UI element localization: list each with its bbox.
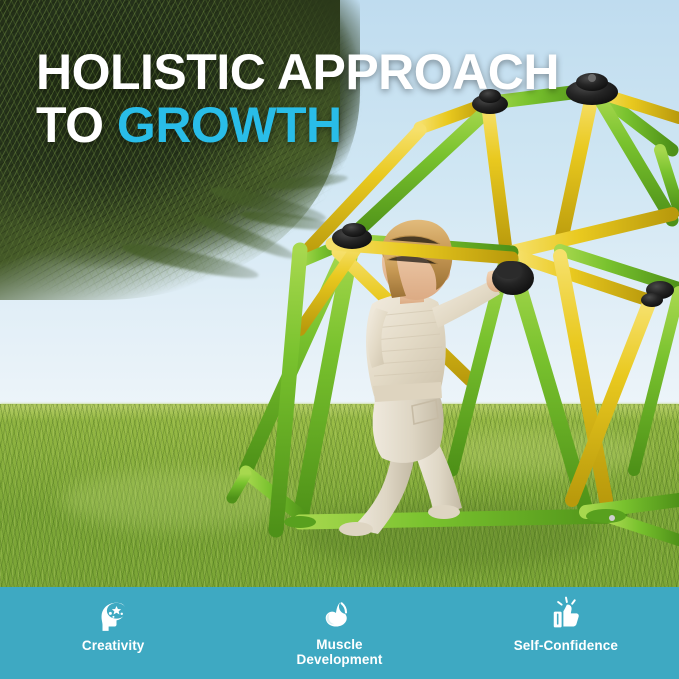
feature-label-creativity: Creativity bbox=[82, 639, 145, 654]
dome-pole-yellow bbox=[512, 214, 672, 252]
thumbs-up-motion-lines bbox=[558, 598, 575, 605]
child-pants bbox=[373, 392, 444, 463]
promo-image: HOLISTIC APPROACH TO GROWTH Creativity bbox=[0, 0, 679, 679]
dome-base-bar-green bbox=[300, 516, 620, 522]
child-shoe-right bbox=[428, 505, 460, 519]
feature-label-line-1: Muscle bbox=[316, 637, 362, 652]
feature-muscle-development: Muscle Development bbox=[226, 587, 452, 667]
headline-line-2: TO GROWTH bbox=[36, 101, 636, 150]
headline-text-primary: HOLISTIC APPROACH bbox=[36, 44, 559, 100]
headline-line-1: HOLISTIC APPROACH bbox=[36, 48, 636, 97]
dome-base-bolt bbox=[609, 515, 615, 521]
dome-base-bar-green bbox=[612, 518, 679, 540]
brain-head-icon bbox=[92, 595, 134, 637]
dome-foot-green bbox=[232, 474, 246, 498]
thumbs-up-icon bbox=[545, 595, 587, 637]
child-shoe-left bbox=[339, 522, 373, 536]
headline-text-accent: GROWTH bbox=[117, 97, 342, 153]
feature-banner: Creativity Muscle Development bbox=[0, 587, 679, 679]
flexed-bicep-icon bbox=[318, 595, 360, 637]
dome-base-plate bbox=[586, 509, 626, 523]
feature-creativity: Creativity bbox=[0, 587, 226, 654]
child-climber bbox=[339, 220, 512, 536]
headline-text-prefix: TO bbox=[36, 97, 117, 153]
dome-hub-cap bbox=[342, 223, 366, 237]
feature-label-self-confidence: Self-Confidence bbox=[514, 639, 618, 654]
dome-hub-black bbox=[641, 293, 663, 307]
feature-label-muscle-development: Muscle Development bbox=[297, 638, 383, 667]
dome-hub-cap bbox=[496, 261, 522, 279]
feature-self-confidence: Self-Confidence bbox=[453, 587, 679, 654]
headline: HOLISTIC APPROACH TO GROWTH bbox=[36, 48, 636, 150]
dome-base-plate bbox=[284, 516, 316, 528]
feature-label-line-2: Development bbox=[297, 652, 383, 667]
